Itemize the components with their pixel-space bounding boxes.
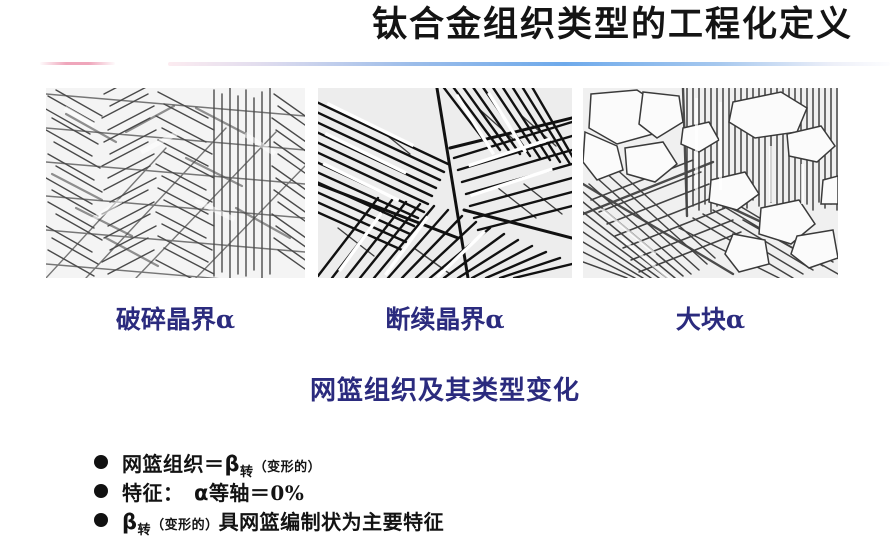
- bullet-text-3: β转（变形的）具网篮编制状为主要特征: [122, 506, 444, 538]
- bullet-item-1: 网篮组织＝β转（变形的）: [94, 448, 794, 477]
- figure-caption-3: 大块α: [583, 303, 838, 337]
- bullet-dot-icon: [94, 513, 108, 527]
- bullet-3-tail: 具网篮编制状为主要特征: [219, 510, 445, 534]
- bullet-3-greek: β: [122, 510, 138, 534]
- bullet-dot-icon: [94, 455, 108, 469]
- slide-canvas: 钛合金组织类型的工程化定义: [0, 0, 893, 548]
- bullet-text-1: 网篮组织＝β转（变形的）: [122, 448, 321, 480]
- figure-2: [318, 88, 572, 278]
- divider-main-gradient: [168, 62, 890, 66]
- bullet-1-greek: β: [225, 452, 241, 476]
- bullet-dot-icon: [94, 484, 108, 498]
- bullet-list: 网篮组织＝β转（变形的） 特征： α等轴＝0% β转（变形的）具网篮编制状为主要…: [94, 448, 794, 535]
- micrograph-image-1: [46, 88, 305, 278]
- micrograph-image-2: [318, 88, 572, 278]
- bullet-2-tail: 等轴＝0%: [209, 481, 304, 505]
- section-subheading: 网篮组织及其类型变化: [180, 372, 710, 410]
- bullet-2-greek: α: [194, 481, 209, 505]
- bullet-item-3: β转（变形的）具网篮编制状为主要特征: [94, 506, 794, 535]
- page-title: 钛合金组织类型的工程化定义: [340, 2, 885, 50]
- micrograph-image-3: [583, 88, 838, 278]
- bullet-1-lead: 网篮组织＝: [122, 452, 225, 476]
- bullet-item-2: 特征： α等轴＝0%: [94, 477, 794, 506]
- bullet-3-paren: （变形的）: [151, 518, 219, 533]
- bullet-2-lead: 特征：: [122, 481, 194, 505]
- figure-caption-1: 破碎晶界α: [46, 303, 305, 337]
- bullet-3-subscript: 转: [138, 523, 152, 538]
- bullet-1-paren: （变形的）: [254, 460, 322, 475]
- figure-1: [46, 88, 305, 278]
- divider-accent-pink: [40, 62, 115, 65]
- figure-3: [583, 88, 838, 278]
- bullet-text-2: 特征： α等轴＝0%: [122, 477, 304, 509]
- figure-caption-2: 断续晶界α: [318, 303, 572, 337]
